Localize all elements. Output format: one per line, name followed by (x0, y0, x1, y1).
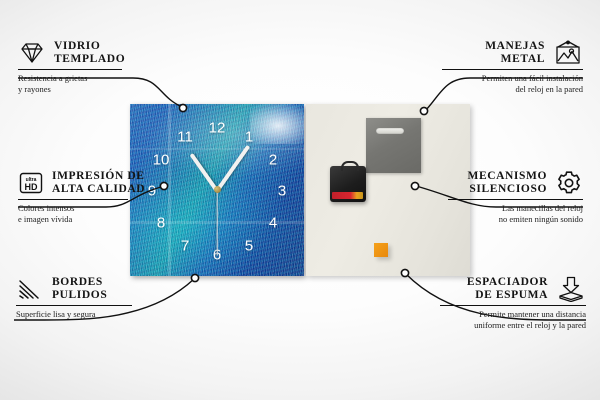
feature-title-line2: METAL (485, 53, 545, 66)
feature-description-line2: y rayones (18, 84, 148, 95)
clock-numeral-4: 4 (269, 215, 277, 232)
feature-divider (16, 305, 132, 306)
clock-numeral-5: 5 (245, 238, 253, 255)
clock-numeral-8: 8 (157, 215, 165, 232)
clock-numeral-6: 6 (213, 247, 221, 264)
clock-numeral-12: 12 (209, 120, 226, 137)
feature-divider (18, 199, 128, 200)
polished-edges-icon (16, 277, 44, 301)
feature-impresion-alta-calidad: ultra HD IMPRESIÓN DE ALTA CALIDAD Color… (18, 170, 154, 225)
feature-title-line2: SILENCIOSO (467, 183, 547, 196)
metal-hanger-plate (366, 118, 421, 173)
feature-title-line1: MANEJAS (485, 40, 545, 53)
feature-description-line1: Permite mantener una distancia (440, 309, 586, 320)
feature-divider (440, 305, 586, 306)
feature-description-line1: Superficie lisa y segura (16, 309, 156, 320)
feature-espaciador-espuma: ESPACIADOR DE ESPUMA Permite mantener un… (440, 276, 586, 331)
feature-description-line1: Resistencia a grietas (18, 73, 148, 84)
feature-description-line1: Colores intensos (18, 203, 154, 214)
second-hand (216, 190, 217, 256)
clock-face: 12 1 2 3 4 5 6 7 8 9 10 11 (130, 104, 304, 276)
feature-description-line1: Las manecillas del reloj (448, 203, 583, 214)
clock-numeral-7: 7 (181, 238, 189, 255)
feature-bordes-pulidos: BORDES PULIDOS Superficie lisa y segura (16, 276, 156, 320)
feature-title-line2: ALTA CALIDAD (52, 183, 145, 196)
feature-mecanismo-silencioso: MECANISMO SILENCIOSO Las manecillas del … (448, 170, 583, 225)
clock-numeral-10: 10 (153, 152, 170, 169)
picture-frame-hanger-icon (553, 40, 583, 66)
feature-title-line2: TEMPLADO (54, 53, 125, 66)
battery (332, 192, 363, 199)
feature-divider (442, 69, 583, 70)
ultra-hd-icon: ultra HD (18, 171, 44, 195)
foam-spacer (374, 243, 388, 257)
feature-description-line2: e imagen vívida (18, 214, 154, 225)
feature-description-line2: uniforme entre el reloj y la pared (440, 320, 586, 331)
feature-description-line2: no emiten ningún sonido (448, 214, 583, 225)
mechanism-hook (341, 161, 359, 171)
infographic-canvas: 12 1 2 3 4 5 6 7 8 9 10 11 (0, 0, 600, 400)
feature-description-line1: Permiten una fácil instalación (442, 73, 583, 84)
feature-vidrio-templado: VIDRIO TEMPLADO Resistencia a grietas y … (18, 40, 148, 95)
product-image: 12 1 2 3 4 5 6 7 8 9 10 11 (130, 104, 470, 276)
gear-icon (555, 170, 583, 196)
feature-divider (448, 199, 583, 200)
clock-numeral-11: 11 (177, 129, 193, 146)
feature-title-line1: MECANISMO (467, 170, 547, 183)
feature-title-line2: PULIDOS (52, 289, 107, 302)
feature-manejas-metal: MANEJAS METAL Permiten una fácil instala… (442, 40, 583, 95)
clock-pivot (214, 186, 221, 193)
clock-numeral-3: 3 (278, 183, 286, 200)
clock-back-panel (306, 104, 470, 276)
feature-divider (18, 69, 122, 70)
feature-title-line1: BORDES (52, 276, 107, 289)
clock-mechanism (330, 166, 366, 202)
feature-description-line2: del reloj en la pared (442, 84, 583, 95)
feature-title-line1: VIDRIO (54, 40, 125, 53)
clock-numeral-1: 1 (245, 129, 253, 146)
svg-text:HD: HD (25, 182, 38, 192)
minute-hand (215, 145, 250, 192)
clock-numerals: 12 1 2 3 4 5 6 7 8 9 10 11 (130, 104, 304, 276)
glass-glare (250, 104, 304, 144)
feature-title-line1: IMPRESIÓN DE (52, 170, 145, 183)
hanger-slot (376, 128, 404, 134)
hour-hand (190, 153, 219, 192)
foam-spacer-arrow-icon (556, 276, 586, 302)
feature-title-line1: ESPACIADOR (467, 276, 548, 289)
clock-numeral-2: 2 (269, 152, 277, 169)
feature-title-line2: DE ESPUMA (467, 289, 548, 302)
diamond-icon (18, 41, 46, 65)
